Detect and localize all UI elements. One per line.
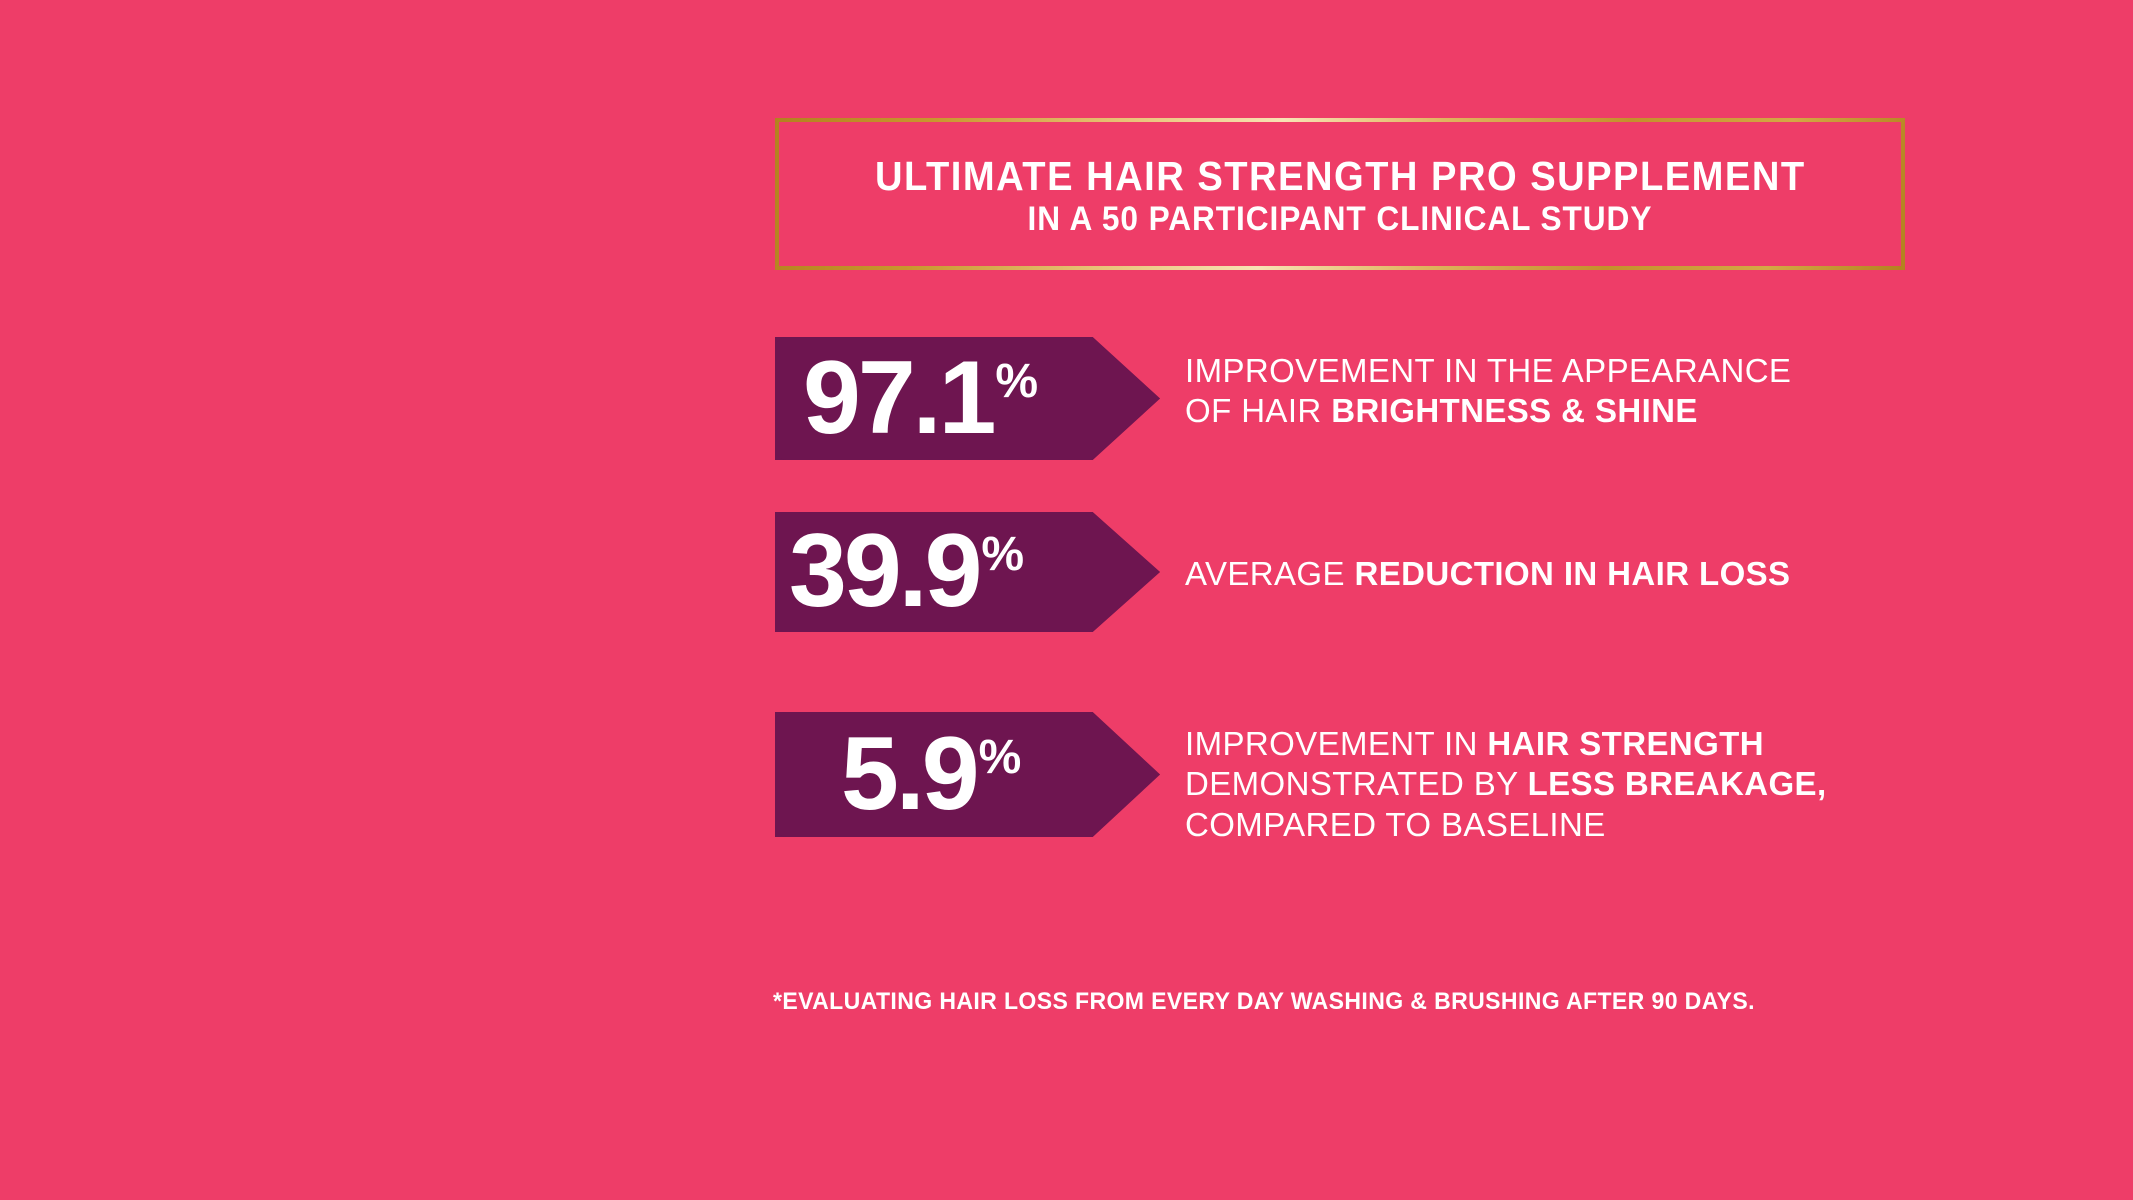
stat-value-2: 39.9 % [789,529,1024,614]
stat-description-3: IMPROVEMENT IN HAIR STRENGTH DEMONSTRATE… [1185,724,1905,845]
text-segment: IMPROVEMENT IN [1185,725,1487,762]
title-banner-inner: ULTIMATE HAIR STRENGTH PRO SUPPLEMENT IN… [779,122,1901,266]
text-segment: IMPROVEMENT IN THE APPEARANCE [1185,352,1791,389]
text-segment: DEMONSTRATED BY [1185,765,1528,802]
stat-value-number: 39.9 [789,529,979,614]
stat-description-1: IMPROVEMENT IN THE APPEARANCE OF HAIR BR… [1185,351,1905,432]
stat-description-2: AVERAGE REDUCTION IN HAIR LOSS [1185,554,1905,594]
percent-sign: % [981,535,1024,574]
stat-value-number: 97.1 [803,356,993,441]
stat-badge-3: 5.9 % [775,712,1160,837]
page-subtitle: IN A 50 PARTICIPANT CLINICAL STUDY [1028,200,1653,238]
stat-description-line: DEMONSTRATED BY LESS BREAKAGE, [1185,764,1905,804]
text-segment: COMPARED TO BASELINE [1185,806,1606,843]
text-segment: OF HAIR [1185,392,1331,429]
stat-description-line: IMPROVEMENT IN HAIR STRENGTH [1185,724,1905,764]
stat-value-3: 5.9 % [841,732,1021,817]
infographic-canvas: ULTIMATE HAIR STRENGTH PRO SUPPLEMENT IN… [0,0,2133,1200]
percent-sign: % [995,362,1038,401]
percent-sign: % [979,738,1022,777]
footnote: *EVALUATING HAIR LOSS FROM EVERY DAY WAS… [773,988,1867,1016]
stat-description-line: IMPROVEMENT IN THE APPEARANCE [1185,351,1905,391]
title-banner: ULTIMATE HAIR STRENGTH PRO SUPPLEMENT IN… [775,118,1905,270]
text-segment-bold: LESS BREAKAGE, [1528,765,1827,802]
stat-value-1: 97.1 % [803,356,1038,441]
stat-description-line: AVERAGE REDUCTION IN HAIR LOSS [1185,554,1905,594]
text-segment-bold: HAIR STRENGTH [1487,725,1764,762]
text-segment-bold: BRIGHTNESS & SHINE [1331,392,1698,429]
text-segment-bold: REDUCTION IN HAIR LOSS [1354,555,1790,592]
text-segment: AVERAGE [1185,555,1354,592]
stat-value-number: 5.9 [841,732,977,817]
stat-description-line: COMPARED TO BASELINE [1185,805,1905,845]
stat-badge-1: 97.1 % [775,337,1160,460]
stat-badge-2: 39.9 % [775,512,1160,632]
page-title: ULTIMATE HAIR STRENGTH PRO SUPPLEMENT [875,155,1806,198]
stat-description-line: OF HAIR BRIGHTNESS & SHINE [1185,391,1905,431]
